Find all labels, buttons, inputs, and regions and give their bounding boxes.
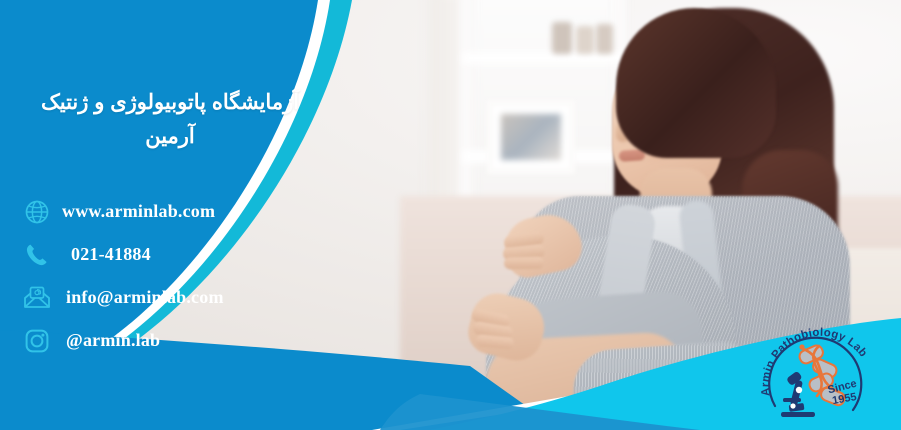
contact-item-phone[interactable]: 021-41884 bbox=[20, 233, 224, 276]
phone-label: 021-41884 bbox=[71, 244, 151, 265]
instagram-label: @armin.lab bbox=[66, 330, 160, 351]
email-label: info@arminlab.com bbox=[66, 287, 224, 308]
website-label: www.arminlab.com bbox=[62, 201, 215, 222]
company-logo: Armin Pathobiology Lab bbox=[757, 318, 877, 430]
contact-list: www.arminlab.com 021-41884 bbox=[20, 190, 224, 362]
contact-item-website[interactable]: www.arminlab.com bbox=[20, 190, 224, 233]
phone-icon bbox=[20, 238, 54, 272]
contact-item-instagram[interactable]: @armin.lab bbox=[20, 319, 224, 362]
page-title-line-2: آرمین bbox=[0, 120, 340, 154]
microscope-icon bbox=[781, 371, 815, 417]
envelope-icon bbox=[20, 281, 54, 315]
contact-item-email[interactable]: info@arminlab.com bbox=[20, 276, 224, 319]
page-title: آزمایشگاه پاتوبیولوژی و ژنتیک آرمین bbox=[0, 86, 340, 154]
globe-icon bbox=[20, 195, 54, 229]
page-title-line-1: آزمایشگاه پاتوبیولوژی و ژنتیک bbox=[0, 86, 340, 120]
promotional-banner: آزمایشگاه پاتوبیولوژی و ژنتیک آرمین www.… bbox=[0, 0, 901, 430]
instagram-icon bbox=[20, 324, 54, 358]
